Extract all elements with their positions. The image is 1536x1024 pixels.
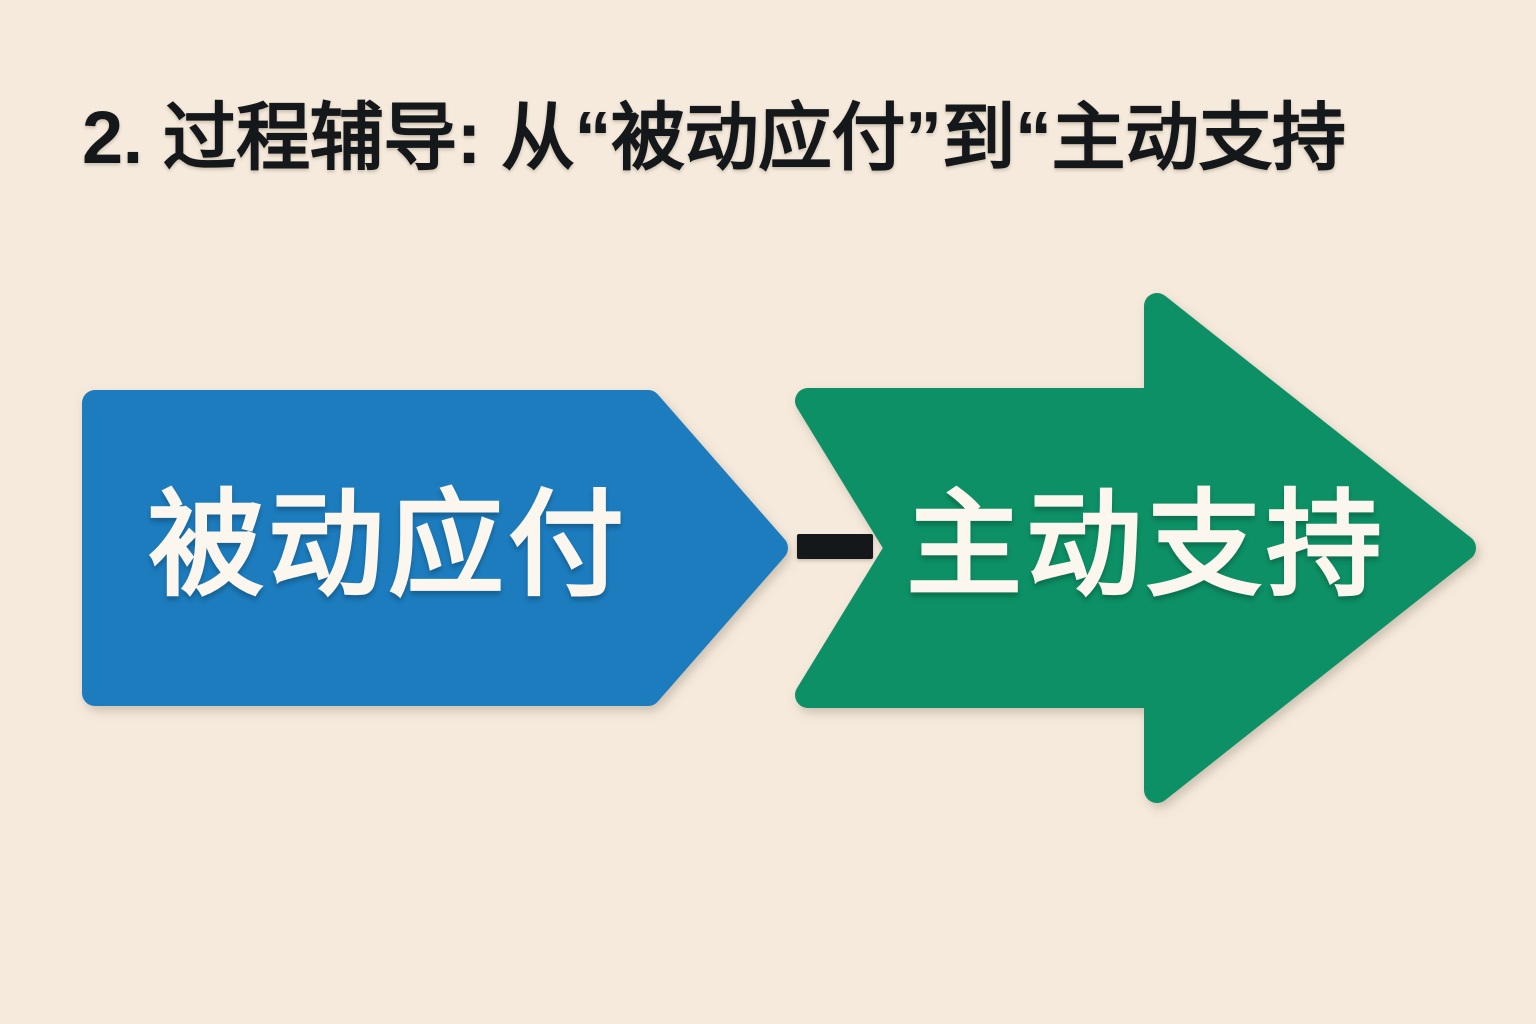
stage-label-proactive: 主动支持 (906, 487, 1386, 603)
dash-connector-icon (797, 534, 873, 559)
slide-canvas: 2. 过程辅导: 从“被动应付”到“主动支持 被动应付 主动支持 (0, 0, 1536, 1024)
stage-label-passive: 被动应付 (148, 487, 628, 603)
